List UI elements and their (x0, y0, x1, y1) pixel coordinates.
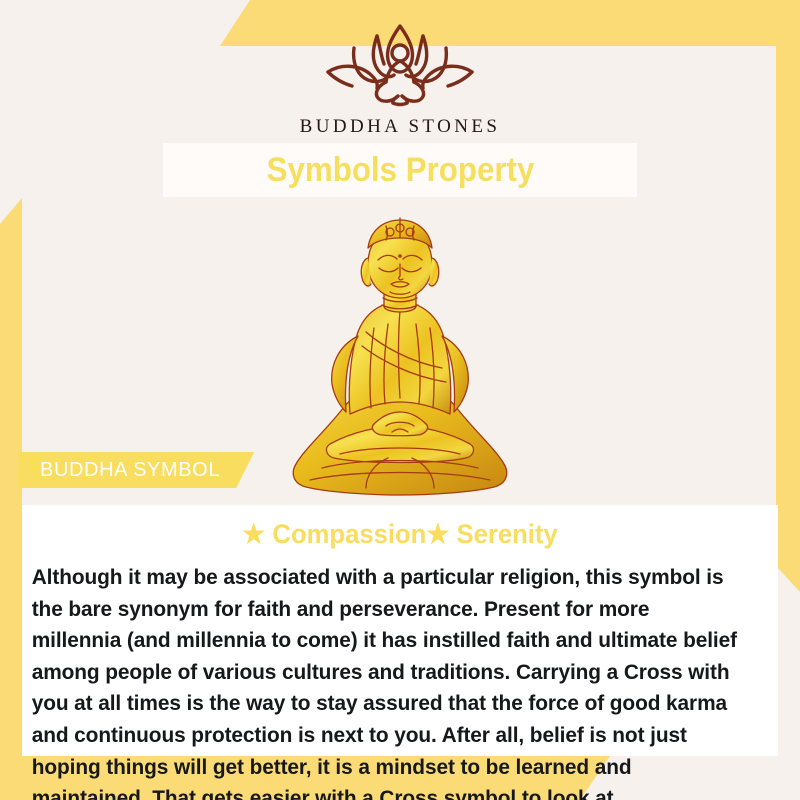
description-paragraph: Although it may be associated with a par… (22, 550, 755, 800)
ribbon-label: BUDDHA SYMBOL (40, 459, 220, 482)
seated-golden-buddha-illustration (270, 206, 530, 498)
keywords-line: ★ Compassion★ Serenity (41, 505, 759, 550)
brand-name: BUDDHA STONES (0, 116, 800, 138)
content-card: ★ Compassion★ Serenity Although it may b… (22, 505, 778, 756)
title-banner: Symbols Property (163, 143, 637, 197)
lotus-meditation-figure-icon (314, 20, 486, 112)
buddha-symbol-ribbon: BUDDHA SYMBOL (18, 452, 254, 488)
brand-logo: BUDDHA STONES (0, 20, 800, 138)
page-title: Symbols Property (266, 151, 534, 190)
poster-root: BUDDHA STONES Symbols Property (0, 0, 800, 800)
